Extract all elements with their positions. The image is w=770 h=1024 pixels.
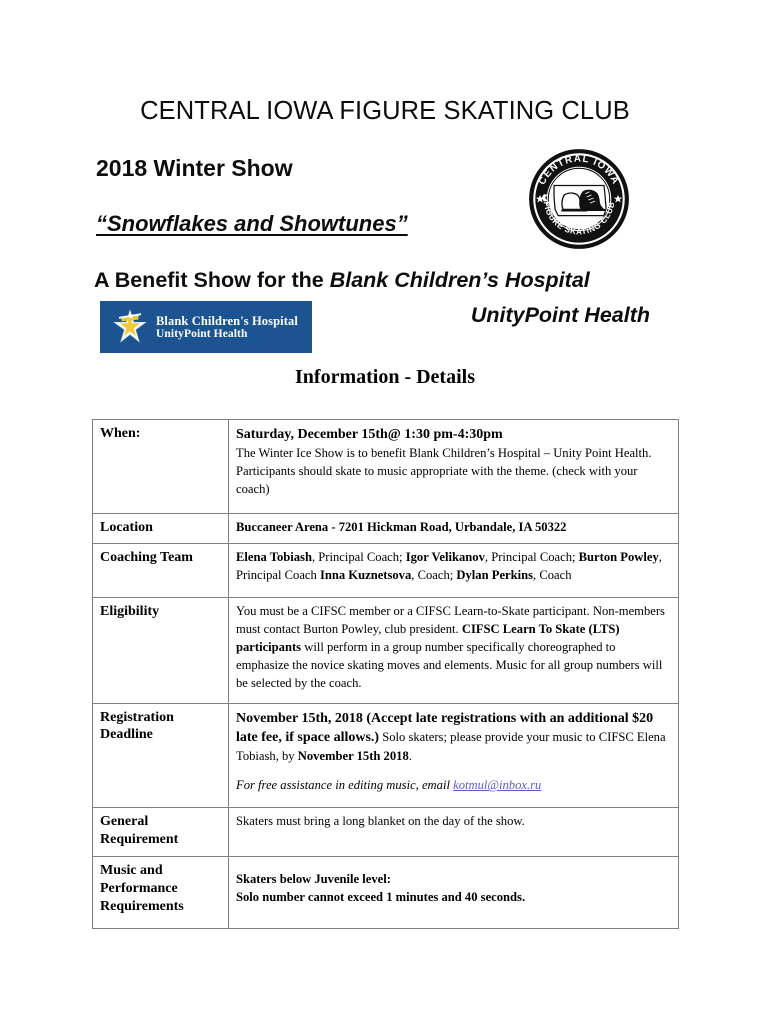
row-content-when: Saturday, December 15th@ 1:30 pm-4:30pm … — [229, 420, 679, 514]
row-content-coaching-team: Elena Tobiash, Principal Coach; Igor Vel… — [229, 544, 679, 598]
row-content-general-requirement: Skaters must bring a long blanket on the… — [229, 808, 679, 857]
table-row-general-requirement: General Requirement Skaters must bring a… — [93, 808, 679, 857]
music-label-line-3: Requirements — [100, 898, 221, 916]
coach-name: Inna Kuznetsova — [320, 568, 411, 582]
row-label-eligibility: Eligibility — [93, 598, 229, 703]
table-row-location: Location Buccaneer Arena - 7201 Hickman … — [93, 513, 679, 544]
when-headline: Saturday, December 15th@ 1:30 pm-4:30pm — [236, 425, 671, 445]
table-row-coaching-team: Coaching Team Elena Tobiash, Principal C… — [93, 544, 679, 598]
music-label-line-1: Music and — [100, 862, 221, 880]
flyer-page: CENTRAL IOWA FIGURE SKATING CLUB 2018 Wi… — [0, 0, 770, 1024]
coach-name: Igor Velikanov — [406, 550, 485, 564]
registration-bold-date: November 15th 2018 — [298, 749, 409, 763]
table-row-registration-deadline: Registration Deadline November 15th, 201… — [93, 703, 679, 808]
details-table: When: Saturday, December 15th@ 1:30 pm-4… — [92, 419, 679, 929]
music-line-1: Skaters below Juvenile level: — [236, 871, 671, 889]
blank-logo-line-2: UnityPoint Health — [156, 328, 298, 341]
row-label-registration-deadline: Registration Deadline — [93, 703, 229, 808]
row-label-coaching-team: Coaching Team — [93, 544, 229, 598]
music-line-2: Solo number cannot exceed 1 minutes and … — [236, 889, 671, 907]
row-label-music-performance: Music and Performance Requirements — [93, 856, 229, 928]
blank-childrens-hospital-logo: Blank Children's Hospital UnityPoint Hea… — [100, 301, 312, 353]
row-content-location: Buccaneer Arena - 7201 Hickman Road, Urb… — [229, 513, 679, 544]
benefit-org-name: Blank Children’s Hospital — [330, 268, 590, 292]
club-title: CENTRAL IOWA FIGURE SKATING CLUB — [0, 97, 770, 126]
row-content-eligibility: You must be a CIFSC member or a CIFSC Le… — [229, 598, 679, 703]
table-row-when: When: Saturday, December 15th@ 1:30 pm-4… — [93, 420, 679, 514]
table-row-eligibility: Eligibility You must be a CIFSC member o… — [93, 598, 679, 703]
row-label-when: When: — [93, 420, 229, 514]
show-title: 2018 Winter Show — [96, 155, 293, 182]
general-label-line-2: Requirement — [100, 831, 221, 849]
row-content-music-performance: Skaters below Juvenile level: Solo numbe… — [229, 856, 679, 928]
music-label-line-2: Performance — [100, 880, 221, 898]
show-theme: “Snowflakes and Showtunes” — [96, 211, 408, 237]
email-link[interactable]: kotmul@inbox.ru — [453, 778, 541, 792]
table-row-music-performance: Music and Performance Requirements Skate… — [93, 856, 679, 928]
benefit-prefix: A Benefit Show for the — [94, 268, 330, 292]
coach-name: Elena Tobiash — [236, 550, 312, 564]
registration-note-prefix: For free assistance in editing music, em… — [236, 778, 453, 792]
cifsc-club-logo: CENTRAL IOWA FIGURE SKATING CLUB — [527, 147, 631, 251]
information-details-heading: Information - Details — [0, 366, 770, 389]
row-label-location: Location — [93, 513, 229, 544]
general-label-line-1: General — [100, 813, 221, 831]
coach-name: Dylan Perkins — [456, 568, 533, 582]
registration-label-line-2: Deadline — [100, 726, 221, 744]
coach-role: , Principal Coach; — [485, 550, 579, 564]
star-figure-icon — [108, 305, 152, 349]
coach-role: , Coach — [533, 568, 571, 582]
coach-name: Burton Powley — [579, 550, 659, 564]
coach-role: , Principal Coach; — [312, 550, 406, 564]
benefit-line-1: A Benefit Show for the Blank Children’s … — [94, 268, 590, 293]
when-body: The Winter Ice Show is to benefit Blank … — [236, 445, 671, 499]
registration-label-line-1: Registration — [100, 709, 221, 727]
registration-end-part: . — [409, 749, 412, 763]
blank-logo-line-1: Blank Children's Hospital — [156, 314, 298, 328]
row-label-general-requirement: General Requirement — [93, 808, 229, 857]
coach-role: , Coach; — [411, 568, 456, 582]
row-content-registration-deadline: November 15th, 2018 (Accept late registr… — [229, 703, 679, 808]
